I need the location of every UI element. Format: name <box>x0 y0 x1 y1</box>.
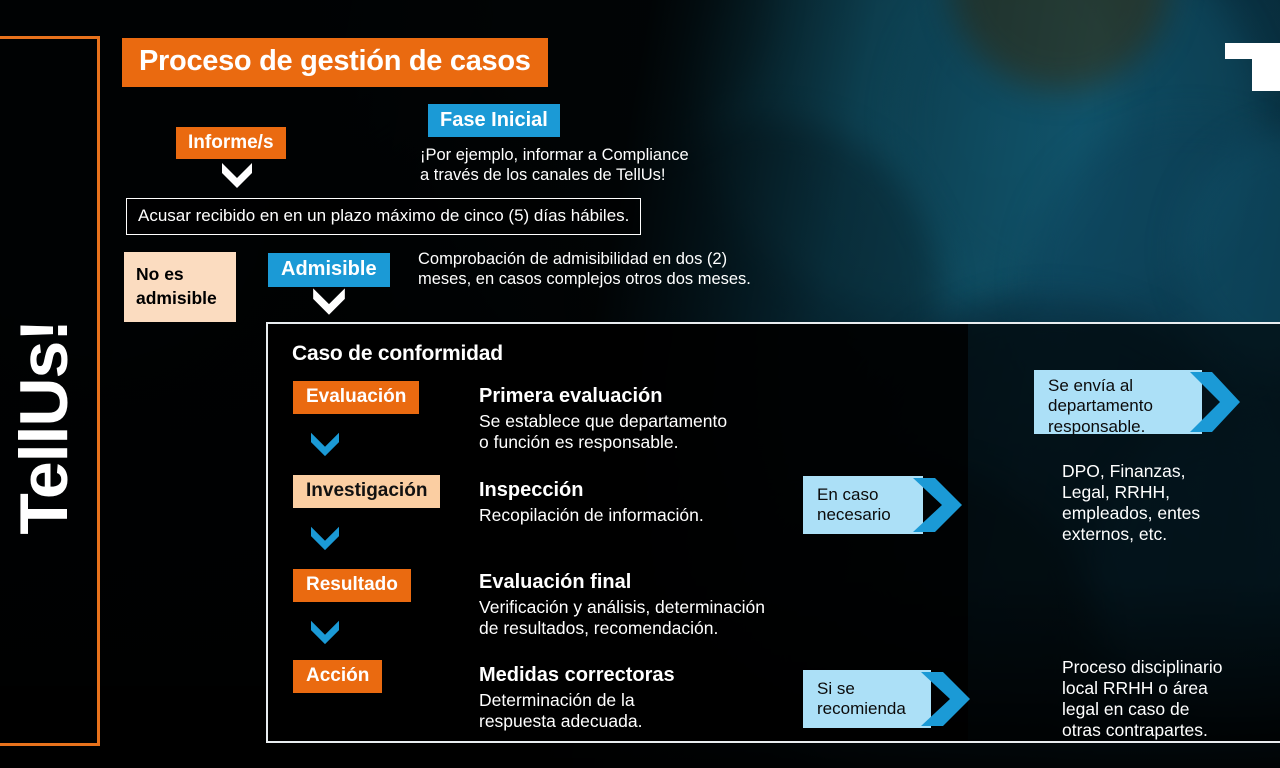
callout-label: En caso necesario <box>803 476 923 534</box>
tag-fase-inicial: Fase Inicial <box>428 104 560 137</box>
step-heading-2: Evaluación final <box>479 571 631 594</box>
slide-canvas: TellUs! Proceso de gestión de casos Info… <box>0 0 1280 768</box>
chevron-right-icon <box>909 476 963 539</box>
step-tag-investigacion: Investigación <box>293 475 440 508</box>
tag-admisible: Admisible <box>268 253 390 287</box>
chevron-right-icon <box>1186 370 1241 439</box>
tag-informes: Informe/s <box>176 127 286 159</box>
step-body-1: Recopilación de información. <box>479 505 704 526</box>
page-title: Proceso de gestión de casos <box>122 38 548 87</box>
step-tag-evaluacion: Evaluación <box>293 381 419 414</box>
step-heading-3: Medidas correctoras <box>479 664 675 687</box>
step-tag-resultado: Resultado <box>293 569 411 602</box>
tellus-logo: TellUs! <box>10 320 78 535</box>
note-admissibility: Comprobación de admisibilidad en dos (2)… <box>418 249 751 289</box>
step-body-2: Verificación y análisis, determinación d… <box>479 597 765 640</box>
step-body-0: Se establece que departamento o función … <box>479 411 727 454</box>
box-acknowledgement: Acusar recibido en en un plazo máximo de… <box>126 198 641 235</box>
note-fase-inicial: ¡Por ejemplo, informar a Compliance a tr… <box>420 145 689 185</box>
step-body-3: Determinación de la respuesta adecuada. <box>479 690 642 733</box>
chevron-right-icon <box>917 670 971 733</box>
corner-stair-mark <box>1225 43 1280 91</box>
compliance-case-title: Caso de conformidad <box>292 342 503 366</box>
side-note-proceso-disciplinario: Proceso disciplinario local RRHH o área … <box>1062 657 1223 741</box>
callout-label: Se envía al departamento responsable. <box>1034 370 1202 434</box>
step-tag-accion: Acción <box>293 660 382 693</box>
step-heading-0: Primera evaluación <box>479 385 662 408</box>
step-heading-1: Inspección <box>479 479 583 502</box>
callout-label: Si se recomienda <box>803 670 931 728</box>
side-note-departamentos: DPO, Finanzas, Legal, RRHH, empleados, e… <box>1062 461 1200 545</box>
box-not-admissible: No es admisible <box>124 252 236 322</box>
